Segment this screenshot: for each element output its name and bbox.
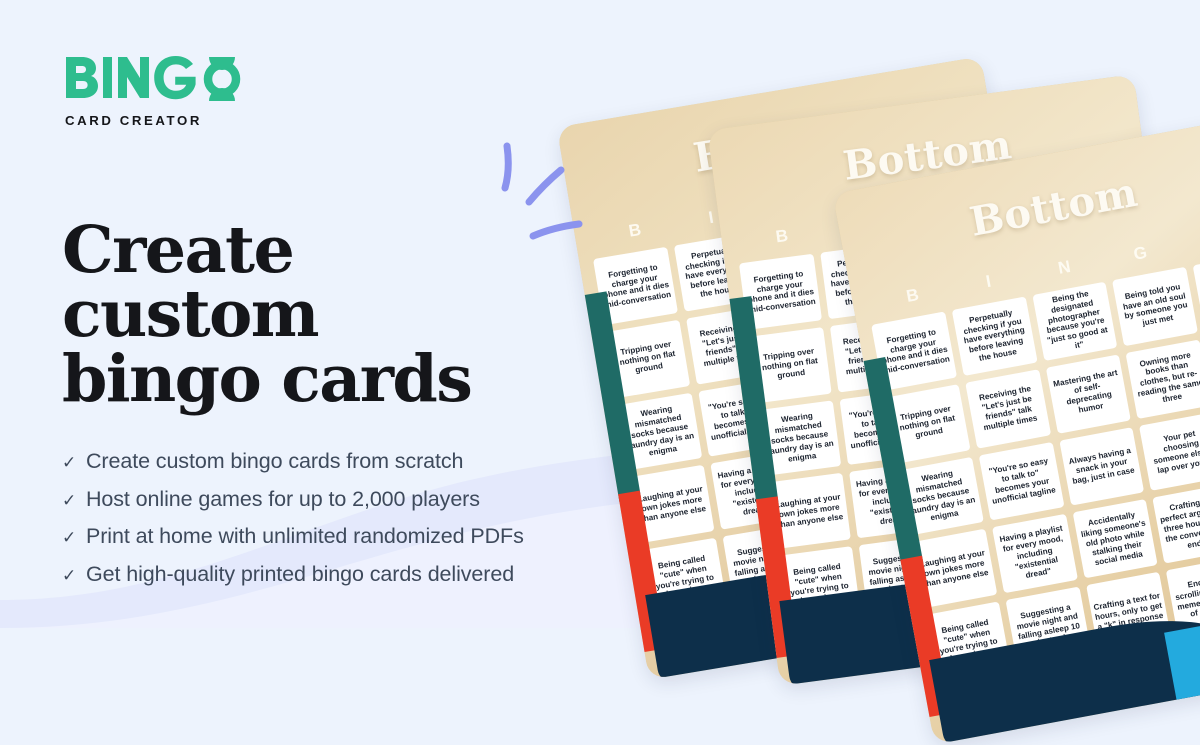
- bingo-cell[interactable]: Tripping over nothing on flat ground: [885, 384, 971, 463]
- feature-label: Host online games for up to 2,000 player…: [86, 489, 622, 511]
- bingo-cell[interactable]: "You're so easy to talk to" becomes your…: [978, 442, 1064, 521]
- feature-label: Get high-quality printed bingo cards del…: [86, 564, 622, 586]
- bingo-cell[interactable]: Tripping over nothing on flat ground: [749, 327, 832, 403]
- feature-label: Create custom bingo cards from scratch: [86, 451, 622, 473]
- bingo-cell[interactable]: Being called "cute" when you're trying t…: [925, 602, 1011, 681]
- headline-line-1: Create custom: [62, 212, 318, 352]
- check-icon: ✓: [62, 492, 86, 509]
- headline-line-2: bingo cards: [62, 341, 471, 417]
- bingo-cell[interactable]: Endlessly scrolling through memes as a f…: [1166, 557, 1200, 636]
- feature-label: Print at home with unlimited randomized …: [86, 526, 622, 548]
- bingo-cell[interactable]: Laughing at your own jokes more than any…: [911, 529, 997, 608]
- bingo-cell[interactable]: Owning more books than clothes, but re-r…: [1126, 339, 1200, 418]
- column-letter: I: [949, 265, 1029, 299]
- bingo-cell[interactable]: Forgetting to charge your phone and it d…: [871, 311, 957, 390]
- sparkle-decoration: [483, 138, 593, 258]
- bingo-cell[interactable]: Accidentally liking someone's old photo …: [1072, 499, 1158, 578]
- bingo-cell[interactable]: Crafting the perfect argument, three hou…: [1153, 484, 1200, 563]
- bingo-cell[interactable]: Receiving the "Let's just be friends" ta…: [965, 369, 1051, 448]
- bingo-cell[interactable]: Suggesting a movie night and falling asl…: [1005, 587, 1091, 666]
- bingo-cell[interactable]: Wearing mismatched socks because laundry…: [758, 400, 841, 476]
- bingo-cell[interactable]: Being called "cute" when you're trying t…: [777, 546, 860, 622]
- bingo-cell[interactable]: Forgetting to charge your phone and it d…: [739, 254, 822, 330]
- column-letter: N: [1025, 251, 1105, 285]
- check-icon: ✓: [62, 567, 86, 584]
- column-letter: G: [1101, 237, 1181, 271]
- bingo-cell[interactable]: Perpetually checking if you have everyth…: [952, 297, 1038, 376]
- bingo-grid: Forgetting to charge your phone and it d…: [871, 252, 1200, 681]
- bingo-cell[interactable]: Laughing at your own jokes more than any…: [630, 465, 715, 543]
- hero-content: CARD CREATOR Create custom bingo cards ✓…: [62, 52, 622, 601]
- bingo-wordmark: [62, 52, 242, 106]
- bingo-cell[interactable]: Being the designated photographer becaus…: [1032, 282, 1118, 361]
- bingo-cell[interactable]: Wearing mismatched socks because laundry…: [898, 457, 984, 536]
- brand-logo[interactable]: CARD CREATOR: [62, 52, 247, 128]
- list-item: ✓ Print at home with unlimited randomize…: [62, 526, 622, 548]
- page-title: Create custom bingo cards: [62, 218, 532, 411]
- list-item: ✓ Host online games for up to 2,000 play…: [62, 489, 622, 511]
- bingo-cell[interactable]: Your pet choosing someone else's lap ove…: [1139, 412, 1200, 491]
- bingo-cell[interactable]: Mastering the art of self-deprecating hu…: [1045, 354, 1131, 433]
- bingo-cell[interactable]: Laughing at your own jokes more than any…: [768, 473, 851, 549]
- bingo-cell[interactable]: Being told you have an old soul by someo…: [1112, 267, 1198, 346]
- check-icon: ✓: [62, 529, 86, 546]
- check-icon: ✓: [62, 454, 86, 471]
- bingo-cell[interactable]: Being called "cute" when you're trying t…: [642, 538, 727, 616]
- column-letter: B: [743, 222, 822, 252]
- list-item: ✓ Get high-quality printed bingo cards d…: [62, 564, 622, 586]
- bingo-cell[interactable]: Always having a snack in your bag, just …: [1059, 427, 1145, 506]
- bingo-cell[interactable]: Having a playlist for every mood, includ…: [992, 514, 1078, 593]
- bingo-cell[interactable]: Wearing mismatched socks because laundry…: [617, 392, 702, 470]
- column-letter: B: [873, 279, 953, 313]
- list-item: ✓ Create custom bingo cards from scratch: [62, 451, 622, 473]
- bingo-cell[interactable]: Crafting a text for hours, only to get a…: [1086, 572, 1172, 651]
- feature-list: ✓ Create custom bingo cards from scratch…: [62, 451, 622, 585]
- brand-subtitle: CARD CREATOR: [65, 113, 247, 128]
- column-letter: O: [1177, 223, 1200, 257]
